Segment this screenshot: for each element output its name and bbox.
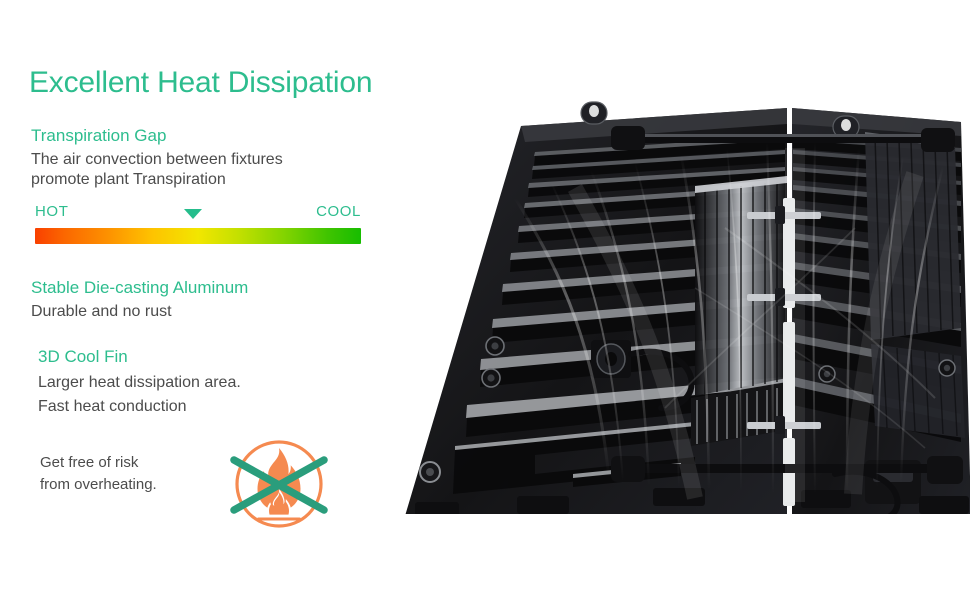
heat-scale: HOT COOL: [35, 203, 361, 244]
heat-scale-hot-label: HOT: [35, 203, 68, 220]
heat-scale-gradient-bar: [35, 228, 361, 244]
heat-dissipation-infographic: Excellent Heat Dissipation Transpiration…: [0, 0, 970, 600]
no-fire-icon: [227, 432, 331, 536]
feature-transpiration-gap: Transpiration Gap The air convection bet…: [31, 126, 283, 190]
heat-scale-labels: HOT COOL: [35, 203, 361, 223]
feature-body-line: The air convection between fixtures: [31, 150, 283, 170]
risk-note-line: Get free of risk: [40, 452, 157, 474]
feature-body-line: Durable and no rust: [31, 302, 248, 322]
feature-body-line: promote plant Transpiration: [31, 170, 283, 190]
risk-note-line: from overheating.: [40, 474, 157, 496]
risk-note-block: Get free of risk from overheating.: [40, 448, 370, 528]
feature-heading: Transpiration Gap: [31, 126, 283, 146]
left-text-panel: Excellent Heat Dissipation Transpiration…: [0, 0, 410, 600]
feature-3d-cool-fin: 3D Cool Fin Larger heat dissipation area…: [38, 347, 241, 419]
feature-body-line: Fast heat conduction: [38, 395, 241, 419]
risk-note-text: Get free of risk from overheating.: [40, 452, 157, 496]
page-title: Excellent Heat Dissipation: [29, 66, 372, 100]
feature-heading: Stable Die-casting Aluminum: [31, 278, 248, 298]
feature-stable-die-casting-aluminum: Stable Die-casting Aluminum Durable and …: [31, 278, 248, 322]
heat-scale-cool-label: COOL: [316, 203, 361, 220]
feature-heading: 3D Cool Fin: [38, 347, 241, 367]
heat-scale-marker-triangle-icon: [184, 209, 202, 219]
feature-body-line: Larger heat dissipation area.: [38, 371, 241, 395]
product-photo: [395, 78, 970, 528]
